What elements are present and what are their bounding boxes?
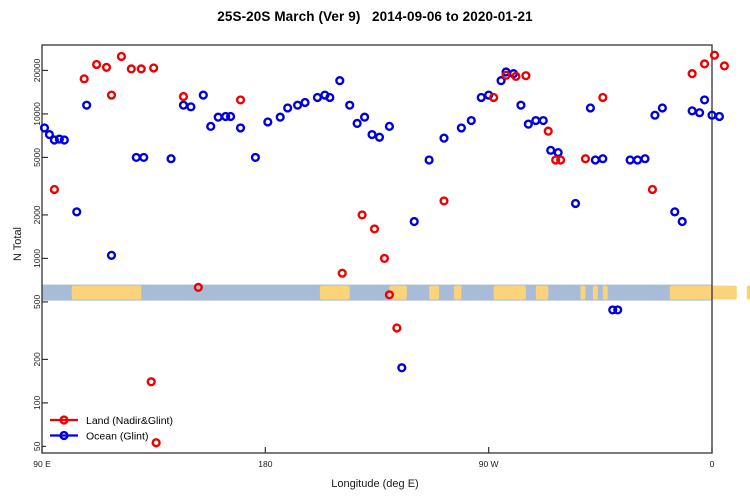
data-point [376,134,383,141]
data-point [200,92,207,99]
data-point [642,155,649,162]
data-point [441,198,448,205]
series-ocean [41,69,723,372]
data-point [108,92,115,99]
data-point [679,218,686,225]
ocean-band-segment [42,285,712,301]
data-point [148,378,155,385]
data-point [51,186,58,193]
data-point [490,94,497,101]
data-point [168,155,175,162]
data-point [93,61,100,68]
data-point [522,72,529,79]
data-point [180,93,187,100]
data-point [314,94,321,101]
data-point [81,75,88,82]
data-point [339,270,346,277]
land-band-segment [320,286,350,300]
data-point [398,364,405,371]
data-point [103,64,110,71]
land-band-segment [580,286,585,300]
data-point [237,125,244,132]
y-tick-label: 100 [32,396,42,410]
data-point [614,307,621,314]
data-point [652,112,659,119]
data-point [659,105,666,112]
data-point [326,94,333,101]
y-tick-label: 50 [32,441,42,451]
data-point [381,255,388,262]
data-point [540,117,547,124]
data-point [284,105,291,112]
data-point [547,147,554,154]
scatter-plot: 90 E18090 W0 501002005001000200050001000… [0,0,750,500]
data-point [518,102,525,109]
data-point [140,154,147,161]
data-point [689,70,696,77]
x-tick-label: 180 [258,459,272,469]
series-land [51,52,728,446]
data-point [525,121,532,128]
chart-figure: 25S-20S March (Ver 9) 2014-09-06 to 2020… [0,0,750,500]
data-point [572,200,579,207]
y-axis-ticks: 501002005001000200050001000020000 [32,58,48,451]
data-point [150,65,157,72]
data-point [187,103,194,110]
land-band-segment [670,286,737,300]
x-tick-label: 0 [710,459,715,469]
y-tick-label: 1000 [32,249,42,268]
data-point [237,97,244,104]
y-tick-label: 200 [32,352,42,366]
data-point [138,65,145,72]
data-point [649,186,656,193]
land-band-segment [593,286,598,300]
data-point [582,155,589,162]
data-point [393,325,400,332]
data-point [359,212,366,219]
land-band-segment [454,286,461,300]
data-point [557,157,564,164]
data-point [83,102,90,109]
data-point [386,123,393,130]
data-point [411,218,418,225]
y-tick-label: 5000 [32,148,42,167]
data-point [128,65,135,72]
data-point [252,154,259,161]
axes-frame [42,45,712,453]
data-point [215,114,222,121]
legend-label: Ocean (Glint) [86,431,148,443]
data-point [592,157,599,164]
data-point [73,208,80,215]
land-band-segment [72,286,141,300]
y-tick-label: 20000 [32,58,42,82]
data-point [627,157,634,164]
y-tick-label: 10000 [32,102,42,126]
plot-frame [42,45,712,453]
data-point [587,105,594,112]
data-point [302,99,309,106]
x-axis-ticks: 90 E18090 W0 [33,447,714,469]
data-point [458,125,465,132]
data-point [41,125,48,132]
land-band-segment [494,286,526,300]
data-point [369,131,376,138]
y-tick-label: 2000 [32,205,42,224]
data-point [227,113,234,120]
data-point [118,53,125,60]
land-band-segment [536,286,548,300]
data-point [716,113,723,120]
land-band-segment [603,286,608,300]
data-point [671,208,678,215]
data-point [354,120,361,127]
data-point [441,135,448,142]
data-point [532,117,539,124]
data-point [634,157,641,164]
data-point [371,226,378,233]
data-point [294,102,301,109]
data-point [468,117,475,124]
data-point [701,97,708,104]
data-point [721,63,728,70]
surface-type-band [42,285,750,301]
x-tick-label: 90 W [479,459,499,469]
x-tick-label: 90 E [33,459,51,469]
data-point [696,109,703,116]
legend-label: Land (Nadir&Glint) [86,415,173,427]
data-point [346,102,353,109]
data-point [701,60,708,67]
data-points [41,52,728,446]
data-point [336,77,343,84]
data-point [426,157,433,164]
land-band-segment [429,286,439,300]
data-point [599,94,606,101]
data-point [108,252,115,259]
data-point [180,102,187,109]
data-point [361,114,368,121]
data-point [555,149,562,156]
data-point [689,107,696,114]
data-point [599,155,606,162]
chart-legend[interactable]: Land (Nadir&Glint)Ocean (Glint) [46,411,198,447]
data-point [277,114,284,121]
data-point [264,119,271,126]
data-point [133,154,140,161]
data-point [545,128,552,135]
data-point [61,137,68,144]
y-tick-label: 500 [32,295,42,309]
data-point [711,52,718,59]
data-point [478,94,485,101]
data-point [207,123,214,130]
